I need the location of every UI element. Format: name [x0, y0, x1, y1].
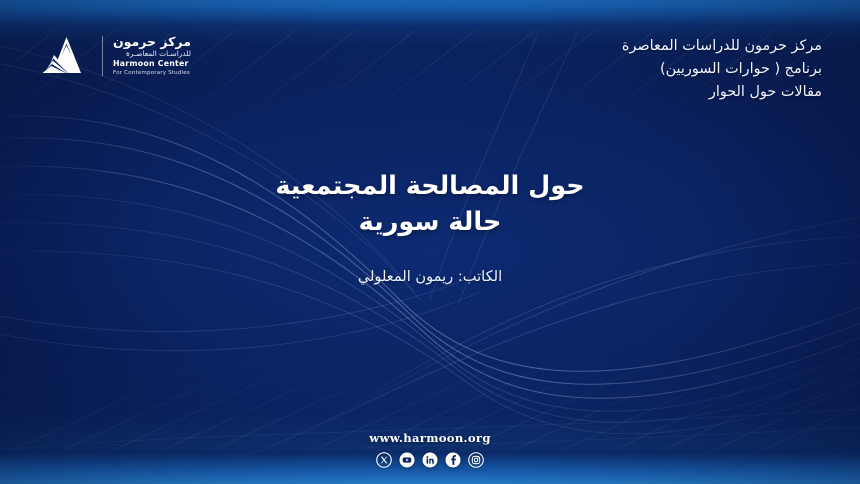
- logo-english-subtitle: For Contemporary Studies: [113, 70, 191, 77]
- youtube-icon[interactable]: [399, 452, 415, 468]
- x-twitter-icon[interactable]: [376, 452, 392, 468]
- cover-slide: مركز حرمون للدراسـات المعاصـرة Harmoon C…: [0, 0, 860, 484]
- header-line-program: برنامج ( حوارات السوريين): [622, 58, 822, 81]
- header-line-organization: مركز حرمون للدراسات المعاصرة: [622, 35, 822, 58]
- header: مركز حرمون للدراسـات المعاصـرة Harmoon C…: [0, 0, 860, 110]
- main-content: حول المصالحة المجتمعية حالة سورية الكاتب…: [0, 168, 860, 285]
- header-title-block: مركز حرمون للدراسات المعاصرة برنامج ( حو…: [622, 35, 822, 103]
- page-title-line2: حالة سورية: [0, 204, 860, 240]
- header-line-series: مقالات حول الحوار: [622, 81, 822, 104]
- website-url[interactable]: www.harmoon.org: [0, 431, 860, 445]
- logo-english-name: Harmoon Center: [113, 59, 191, 70]
- linkedin-icon[interactable]: [422, 452, 438, 468]
- footer: www.harmoon.org: [0, 431, 860, 468]
- facebook-icon[interactable]: [445, 452, 461, 468]
- instagram-icon[interactable]: [468, 452, 484, 468]
- logo-arabic-name: مركز حرمون: [113, 35, 191, 49]
- logo-arabic-subtitle: للدراسـات المعاصـرة: [113, 49, 191, 59]
- logo-divider: [102, 36, 103, 76]
- page-title-line1: حول المصالحة المجتمعية: [0, 168, 860, 204]
- author-line: الكاتب: ريمون المعلولي: [0, 268, 860, 285]
- social-links: [0, 452, 860, 468]
- harmoon-mountain-logo-icon: [40, 33, 92, 79]
- logo-text-block: مركز حرمون للدراسـات المعاصـرة Harmoon C…: [113, 35, 191, 77]
- harmoon-logo[interactable]: مركز حرمون للدراسـات المعاصـرة Harmoon C…: [40, 33, 191, 79]
